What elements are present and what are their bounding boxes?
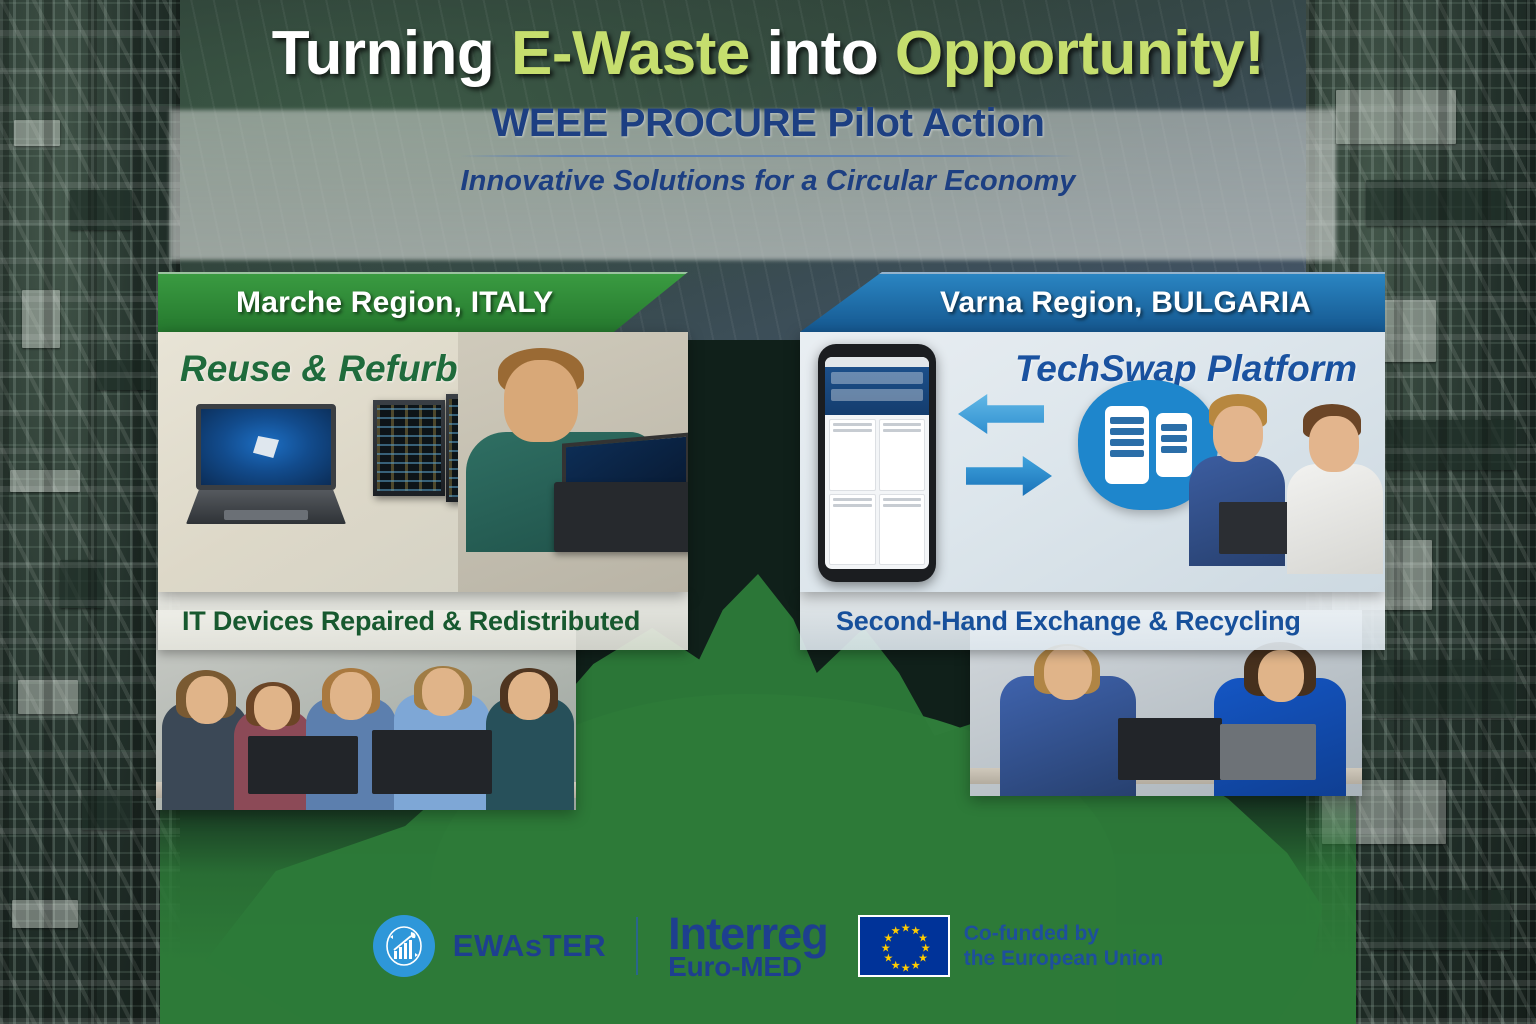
laptop-icon: [1118, 718, 1222, 780]
person-head: [254, 686, 292, 730]
listing-line: [833, 504, 872, 507]
eu-flag-icon: [858, 915, 950, 977]
laptop-icon: [248, 736, 358, 794]
chip: [10, 470, 80, 492]
swap-arrows: [958, 394, 1068, 514]
device-icon-large: [1105, 406, 1149, 484]
device-row: [1161, 435, 1187, 442]
title-part-2: E-Waste: [511, 19, 767, 88]
person-torso: [1287, 464, 1383, 574]
office-pair-photo: [1185, 352, 1385, 592]
banner-varna-bulgaria: Varna Region, BULGARIA: [800, 272, 1385, 332]
repair-laptop-base: [554, 482, 688, 552]
caption-left: IT Devices Repaired & Redistributed: [158, 606, 640, 637]
listing-line: [883, 498, 922, 501]
card-reuse-refurbish: Reuse & Refurbish: [158, 332, 688, 592]
chip: [1376, 660, 1516, 718]
logo-interreg[interactable]: Interreg Euro-MED: [668, 913, 828, 980]
person-head: [186, 676, 228, 724]
subtitle-light: Pilot Action: [817, 101, 1045, 145]
title-part-1: Turning: [272, 19, 511, 88]
listing-line: [833, 423, 872, 426]
listing-line: [833, 429, 872, 432]
eu-text-line-1: Co-funded by: [964, 921, 1164, 947]
logo-european-union[interactable]: Co-funded by the European Union: [858, 915, 1164, 977]
caption-bar-left: IT Devices Repaired & Redistributed: [158, 592, 688, 650]
person-head: [508, 672, 550, 720]
chip: [22, 290, 60, 348]
eu-star: [919, 933, 928, 942]
ewaster-label: EWAsTER: [453, 928, 606, 964]
device-row: [1161, 424, 1187, 431]
person-head: [1309, 416, 1359, 472]
laptop-icon: [1220, 724, 1316, 780]
listing-card: [879, 494, 926, 566]
header: Turning E-Waste into Opportunity! WEEE P…: [0, 18, 1536, 198]
interreg-programme: Euro-MED: [668, 954, 828, 980]
chip: [82, 790, 132, 830]
person: [1000, 628, 1136, 796]
eu-star: [911, 926, 920, 935]
page-title: Turning E-Waste into Opportunity!: [0, 18, 1536, 89]
person-head: [422, 668, 464, 716]
app-hero-banner: [825, 367, 929, 415]
panel-marche-italy: Marche Region, ITALY Reuse & Refurbish I…: [158, 272, 688, 650]
arrow-left-icon: [958, 394, 1044, 434]
laptop-illustration: [186, 404, 346, 524]
arrow-right-icon: [966, 456, 1052, 496]
panel-varna-bulgaria: Varna Region, BULGARIA TechSwap Platform: [800, 272, 1385, 650]
tagline: Innovative Solutions for a Circular Econ…: [460, 165, 1075, 198]
chip: [18, 680, 78, 714]
card-techswap: TechSwap Platform: [800, 332, 1385, 592]
pcb-texture: [377, 405, 442, 491]
eu-star: [891, 961, 900, 970]
subtitle: WEEE PROCURE Pilot Action: [460, 101, 1075, 146]
eu-star: [921, 943, 930, 952]
phone-screen: [825, 357, 929, 569]
ewaster-circle-icon: [373, 915, 435, 977]
listing-card: [829, 494, 876, 566]
device-row: [1110, 417, 1144, 424]
eu-star: [884, 953, 893, 962]
listing-line: [833, 498, 872, 501]
device-row: [1161, 446, 1187, 453]
desktop-tower-icon: [373, 400, 445, 496]
eu-star: [891, 926, 900, 935]
caption-bar-right: Second-Hand Exchange & Recycling: [800, 592, 1385, 650]
banner-label-right: Varna Region, BULGARIA: [940, 286, 1311, 320]
title-part-4: Opportunity!: [895, 19, 1264, 88]
technician-head: [504, 360, 578, 442]
eu-funding-text: Co-funded by the European Union: [964, 921, 1164, 972]
title-part-3: into: [767, 19, 895, 88]
device-row: [1110, 439, 1144, 446]
person-head: [330, 672, 372, 720]
app-listing-grid: [825, 415, 929, 569]
logo-divider: [636, 917, 638, 975]
smartphone-marketplace-app: [818, 344, 936, 582]
eu-star: [911, 961, 920, 970]
banner-label-left: Marche Region, ITALY: [236, 286, 553, 320]
caption-right: Second-Hand Exchange & Recycling: [800, 606, 1301, 637]
footer-logos: EWAsTER Interreg Euro-MED Co-funded by t…: [0, 913, 1536, 980]
phone-status-bar: [825, 357, 929, 367]
chip: [96, 360, 150, 390]
eu-star: [901, 923, 910, 932]
eu-text-line-2: the European Union: [964, 946, 1164, 972]
device-row: [1110, 428, 1144, 435]
person-head: [1044, 646, 1092, 700]
listing-card: [829, 419, 876, 491]
subtitle-divider: [460, 155, 1075, 157]
device-row: [1110, 450, 1144, 457]
growth-chart-recycle-icon: [381, 923, 427, 969]
laptop-icon: [372, 730, 492, 794]
interreg-wordmark: Interreg: [668, 913, 828, 954]
app-hero-row: [831, 372, 923, 384]
subtitle-bold: WEEE PROCURE: [491, 101, 816, 145]
technician-photo: [458, 332, 688, 592]
laptop-keyboard: [186, 490, 346, 524]
person-head: [1258, 650, 1304, 702]
listing-card: [879, 419, 926, 491]
eu-star: [901, 963, 910, 972]
logo-ewaster[interactable]: EWAsTER: [373, 915, 606, 977]
app-hero-row: [831, 389, 923, 401]
eu-star: [881, 943, 890, 952]
chip: [60, 560, 104, 608]
listing-line: [883, 423, 922, 426]
banner-marche-italy: Marche Region, ITALY: [158, 272, 688, 332]
listing-line: [883, 429, 922, 432]
eu-star: [919, 953, 928, 962]
chip: [1386, 420, 1516, 470]
person: [486, 654, 574, 810]
listing-line: [883, 504, 922, 507]
eu-star: [884, 933, 893, 942]
laptop-screen-icon: [196, 404, 336, 490]
person-head: [1213, 406, 1263, 462]
subtitle-block: WEEE PROCURE Pilot Action Innovative Sol…: [450, 101, 1085, 198]
